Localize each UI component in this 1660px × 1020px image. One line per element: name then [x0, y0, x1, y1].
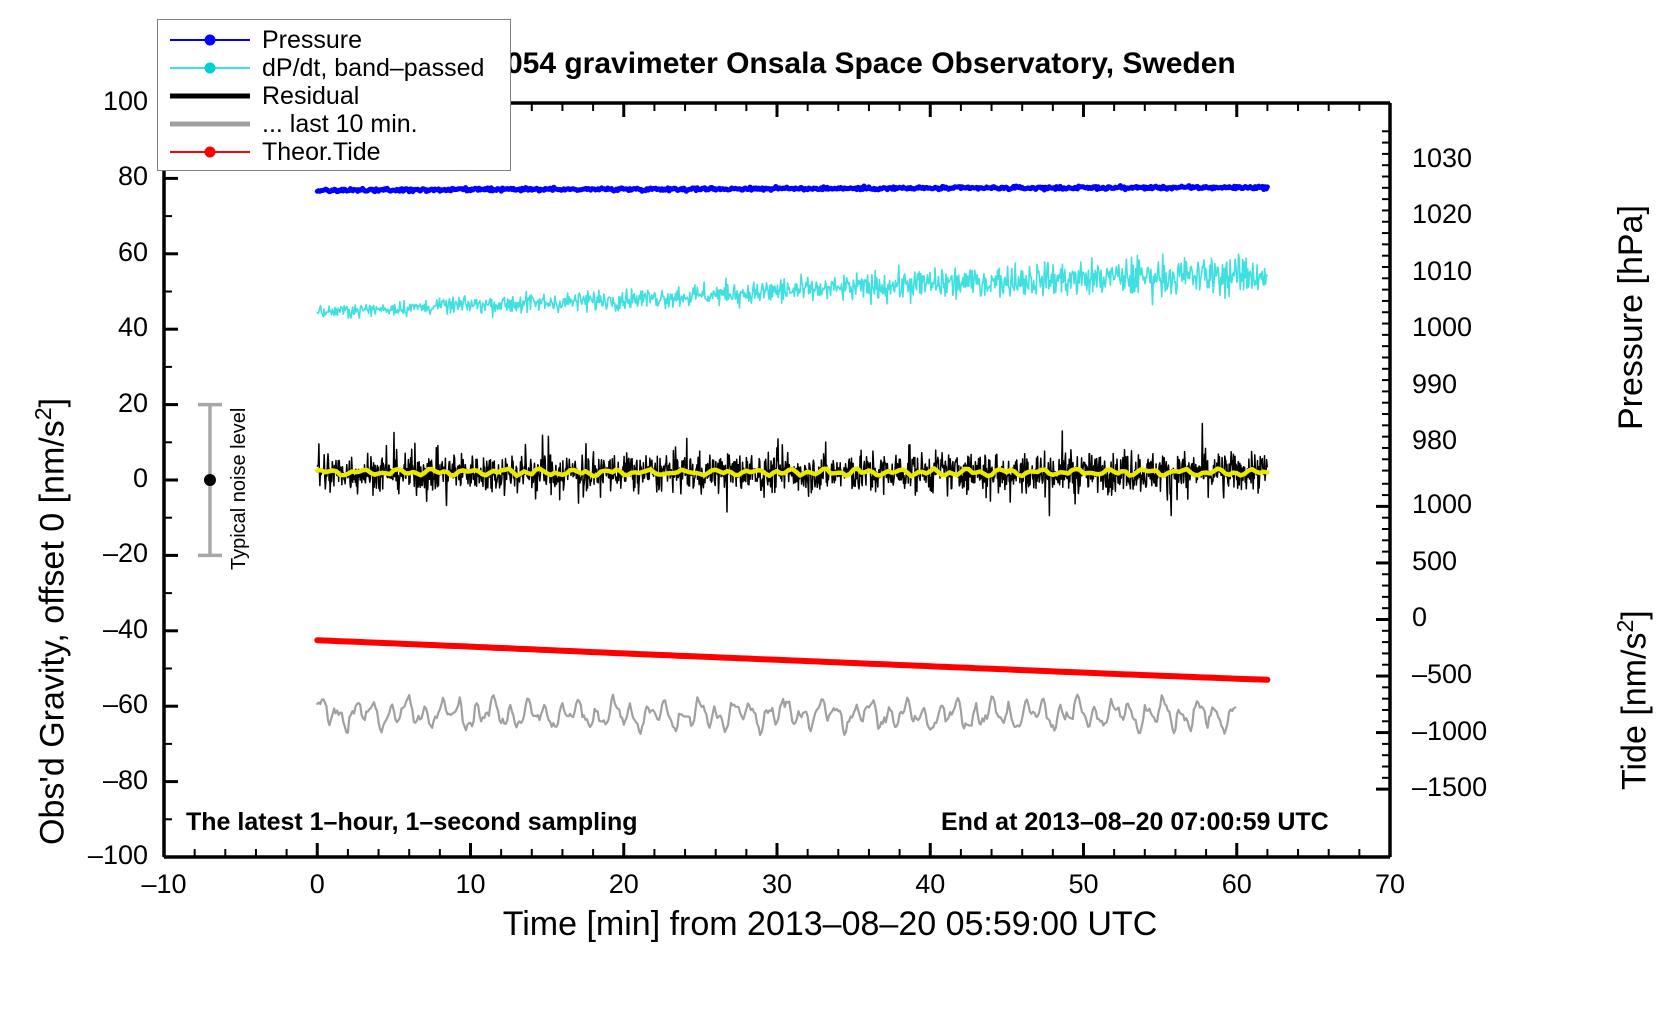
- series-theoretical-tide: [317, 640, 1267, 680]
- y-axis-tide-tick-label: 1000: [1412, 489, 1542, 520]
- legend-line-sample-icon: [170, 86, 250, 106]
- y-axis-right-pressure-label: Pressure [hPa]: [1612, 205, 1651, 430]
- y-axis-pressure-tick-label: 980: [1412, 425, 1532, 456]
- legend-item[interactable]: Theor.Tide: [158, 138, 510, 166]
- x-axis-tick-label: –10: [104, 869, 224, 900]
- x-axis-tick-label: 50: [1024, 869, 1144, 900]
- legend-item[interactable]: ... last 10 min.: [158, 110, 510, 138]
- x-axis-tick-label: 0: [257, 869, 377, 900]
- x-axis-tick-label: 40: [870, 869, 990, 900]
- plot-root: SCG_054 gravimeter Onsala Space Observat…: [0, 0, 1660, 1020]
- legend-item[interactable]: Pressure: [158, 26, 510, 54]
- x-axis-tick-label: 30: [717, 869, 837, 900]
- legend-line-sample-icon: [170, 58, 250, 78]
- y-axis-right-tide-label: Tide [nm/s2]: [1612, 610, 1654, 790]
- y-axis-left-tick-label: 100: [32, 86, 148, 117]
- x-axis-tick-label: 10: [411, 869, 531, 900]
- x-axis-tick-label: 60: [1177, 869, 1297, 900]
- y-axis-left-tick-label: –80: [32, 765, 148, 796]
- y-axis-left-tick-label: 20: [32, 388, 148, 419]
- y-axis-pressure-tick-label: 1030: [1412, 143, 1532, 174]
- legend-item[interactable]: dP/dt, band–passed: [158, 54, 510, 82]
- y-axis-left-tick-label: 80: [32, 161, 148, 192]
- legend-item[interactable]: Residual: [158, 82, 510, 110]
- series-pressure: [317, 186, 1267, 192]
- legend-item-label: dP/dt, band–passed: [262, 56, 484, 81]
- y-axis-left-tick-label: –20: [32, 538, 148, 569]
- y-axis-right-tide-label-exponent: 2: [1612, 620, 1638, 633]
- noise-bar-center-dot: [204, 474, 216, 486]
- series-last-10-min: [317, 695, 1235, 735]
- y-axis-pressure-tick-label: 990: [1412, 369, 1532, 400]
- y-axis-tide-tick-label: –1500: [1412, 772, 1542, 803]
- legend-marker-dot-icon: [205, 35, 216, 46]
- y-axis-pressure-tick-label: 1000: [1412, 312, 1532, 343]
- series-dpdt-bandpassed: [317, 254, 1267, 318]
- y-axis-tide-tick-label: –1000: [1412, 716, 1542, 747]
- legend-line-icon: [170, 122, 250, 127]
- legend-line-sample-icon: [170, 30, 250, 50]
- y-axis-tide-tick-label: 500: [1412, 546, 1542, 577]
- sampling-note: The latest 1–hour, 1–second sampling: [186, 808, 638, 837]
- legend-line-sample-icon: [170, 142, 250, 162]
- y-axis-pressure-tick-label: 1020: [1412, 199, 1532, 230]
- y-axis-right-tide-label-tail: ]: [1615, 610, 1653, 619]
- x-axis-label: Time [min] from 2013–08–20 05:59:00 UTC: [0, 905, 1660, 944]
- typical-noise-level-label: Typical noise level: [228, 408, 251, 570]
- legend-line-sample-icon: [170, 114, 250, 134]
- y-axis-left-tick-label: –60: [32, 689, 148, 720]
- y-axis-tide-tick-label: –500: [1412, 659, 1542, 690]
- y-axis-left-tick-label: –100: [32, 840, 148, 871]
- y-axis-tide-tick-label: 0: [1412, 602, 1542, 633]
- legend-marker-dot-icon: [205, 63, 216, 74]
- legend-item-label: Theor.Tide: [262, 140, 381, 165]
- legend-marker-dot-icon: [205, 147, 216, 158]
- legend-item-label: Pressure: [262, 28, 362, 53]
- legend-item-label: Residual: [262, 84, 359, 109]
- y-axis-right-tide-label-text: Tide [nm/s: [1615, 633, 1653, 790]
- plot-frame: [164, 103, 1390, 857]
- legend: PressuredP/dt, band–passedResidual... la…: [157, 19, 511, 171]
- y-axis-pressure-tick-label: 1010: [1412, 256, 1532, 287]
- legend-item-label: ... last 10 min.: [262, 112, 418, 137]
- y-axis-left-tick-label: 40: [32, 312, 148, 343]
- y-axis-left-tick-label: –40: [32, 614, 148, 645]
- x-axis-tick-label: 20: [564, 869, 684, 900]
- y-axis-left-tick-label: 0: [32, 463, 148, 494]
- y-axis-left-tick-label: 60: [32, 237, 148, 268]
- legend-line-icon: [170, 94, 250, 99]
- x-axis-tick-label: 70: [1330, 869, 1450, 900]
- end-time-note: End at 2013–08–20 07:00:59 UTC: [941, 808, 1329, 837]
